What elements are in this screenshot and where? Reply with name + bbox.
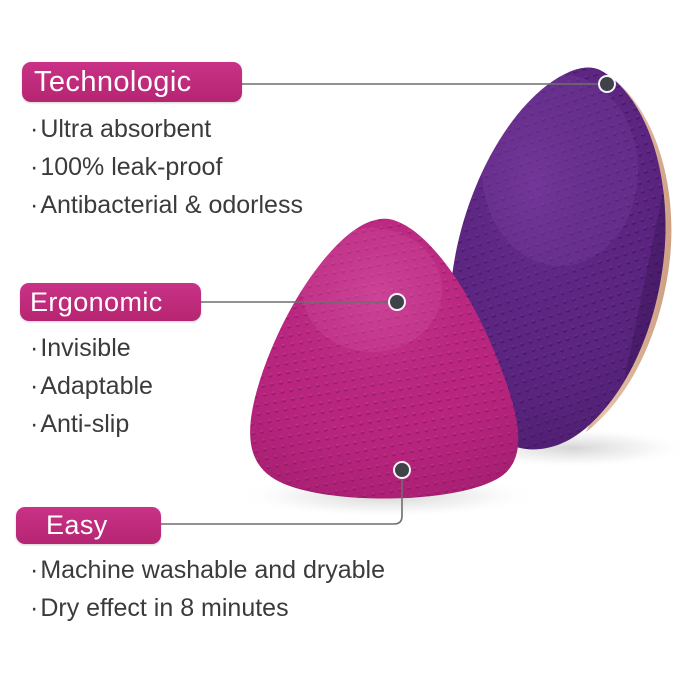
feature-list-ergonomic: ·Invisible ·Adaptable ·Anti-slip xyxy=(30,329,153,443)
feature-list-easy: ·Machine washable and dryable ·Dry effec… xyxy=(30,551,385,627)
feature-item: ·Ultra absorbent xyxy=(30,110,303,148)
bullet-dot-icon: · xyxy=(30,556,38,584)
callout-badge-easy[interactable]: Easy xyxy=(16,507,161,544)
bullet-dot-icon: · xyxy=(30,372,38,400)
feature-text: Machine washable and dryable xyxy=(40,556,385,584)
feature-item: ·Invisible xyxy=(30,329,153,367)
bullet-dot-icon: · xyxy=(30,191,38,219)
infographic-canvas: Technologic Ergonomic Easy ·Ultra absorb… xyxy=(0,0,679,679)
feature-item: ·Dry effect in 8 minutes xyxy=(30,589,385,627)
feature-item: ·100% leak-proof xyxy=(30,148,303,186)
bullet-dot-icon: · xyxy=(30,115,38,143)
feature-text: Antibacterial & odorless xyxy=(40,191,303,219)
feature-item: ·Anti-slip xyxy=(30,405,153,443)
feature-text: Adaptable xyxy=(40,372,153,400)
callout-marker-technologic[interactable] xyxy=(598,75,616,93)
feature-item: ·Adaptable xyxy=(30,367,153,405)
callout-badge-ergonomic[interactable]: Ergonomic xyxy=(20,283,201,321)
feature-text: Anti-slip xyxy=(40,410,129,438)
feature-list-technologic: ·Ultra absorbent ·100% leak-proof ·Antib… xyxy=(30,110,303,224)
callout-badge-label: Ergonomic xyxy=(20,287,163,318)
bullet-dot-icon: · xyxy=(30,410,38,438)
callout-marker-easy[interactable] xyxy=(393,461,411,479)
feature-item: ·Antibacterial & odorless xyxy=(30,186,303,224)
bullet-dot-icon: · xyxy=(30,594,38,622)
feature-text: 100% leak-proof xyxy=(40,153,222,181)
feature-text: Ultra absorbent xyxy=(40,115,211,143)
callout-badge-label: Easy xyxy=(16,510,108,541)
feature-text: Invisible xyxy=(40,334,130,362)
bullet-dot-icon: · xyxy=(30,334,38,362)
feature-text: Dry effect in 8 minutes xyxy=(40,594,288,622)
connector-line-easy xyxy=(159,470,402,524)
callout-badge-label: Technologic xyxy=(22,66,192,99)
feature-item: ·Machine washable and dryable xyxy=(30,551,385,589)
callout-marker-ergonomic[interactable] xyxy=(388,293,406,311)
bullet-dot-icon: · xyxy=(30,153,38,181)
callout-badge-technologic[interactable]: Technologic xyxy=(22,62,242,102)
